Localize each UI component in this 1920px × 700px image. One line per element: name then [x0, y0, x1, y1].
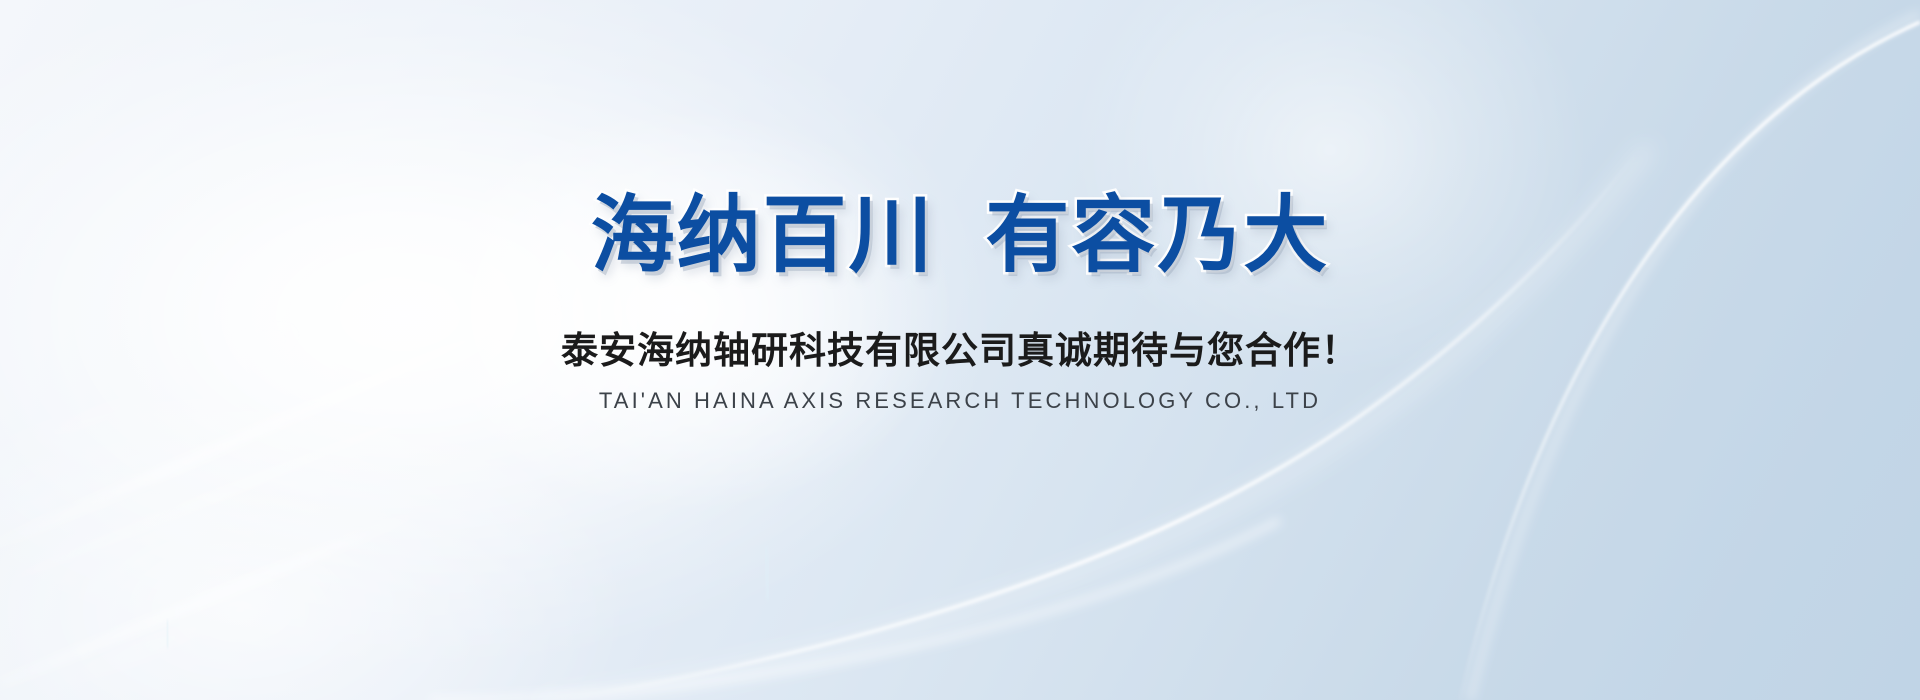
banner-headline: 海纳百川 有容乃大 — [591, 193, 1330, 277]
banner-subline: 泰安海纳轴研科技有限公司真诚期待与您合作！ — [561, 332, 1359, 369]
hero-banner: 海纳百川 有容乃大 泰安海纳轴研科技有限公司真诚期待与您合作！ TAI'AN H… — [0, 0, 1920, 700]
banner-content: 海纳百川 有容乃大 泰安海纳轴研科技有限公司真诚期待与您合作！ TAI'AN H… — [0, 0, 1920, 700]
banner-english-company-name: TAI'AN HAINA AXIS RESEARCH TECHNOLOGY CO… — [599, 390, 1321, 412]
